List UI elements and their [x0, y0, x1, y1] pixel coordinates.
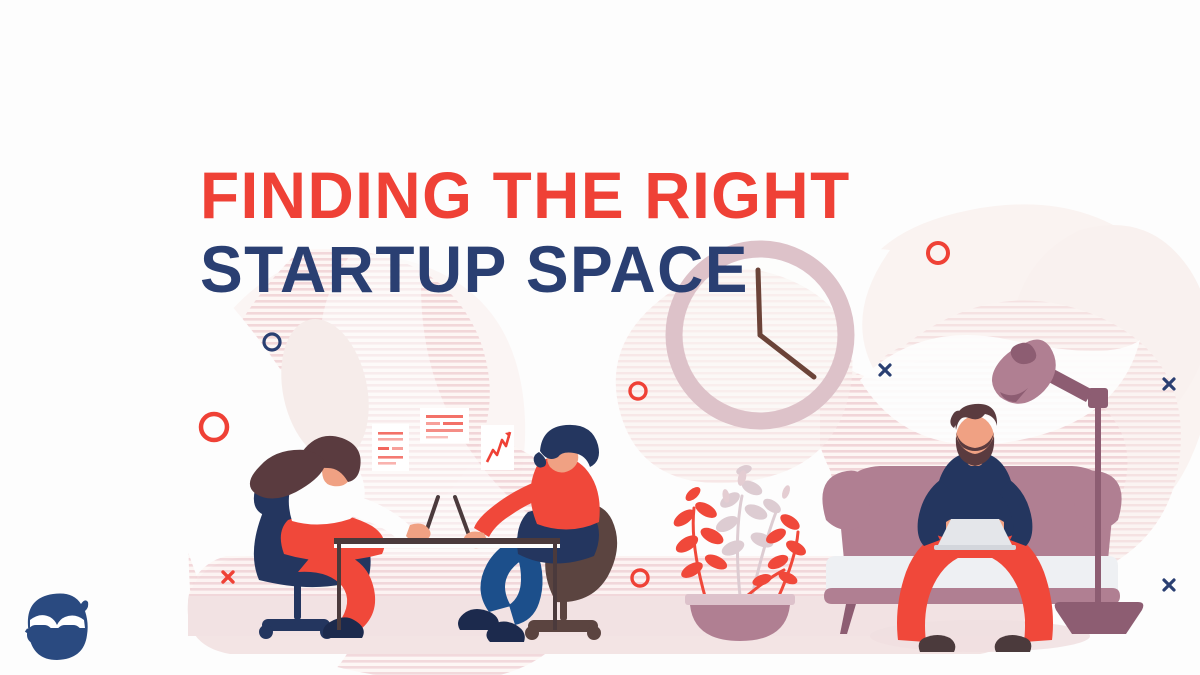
scene-illustration: [0, 0, 1200, 675]
wall-clock: [674, 249, 846, 421]
document-card-chart: [481, 425, 514, 470]
illustration-banner: FINDING THE RIGHT STARTUP SPACE: [0, 0, 1200, 675]
face-with-glasses-logo[interactable]: [18, 586, 94, 662]
document-card-text-wide: [420, 408, 469, 443]
document-card-text-tall: [372, 424, 409, 471]
